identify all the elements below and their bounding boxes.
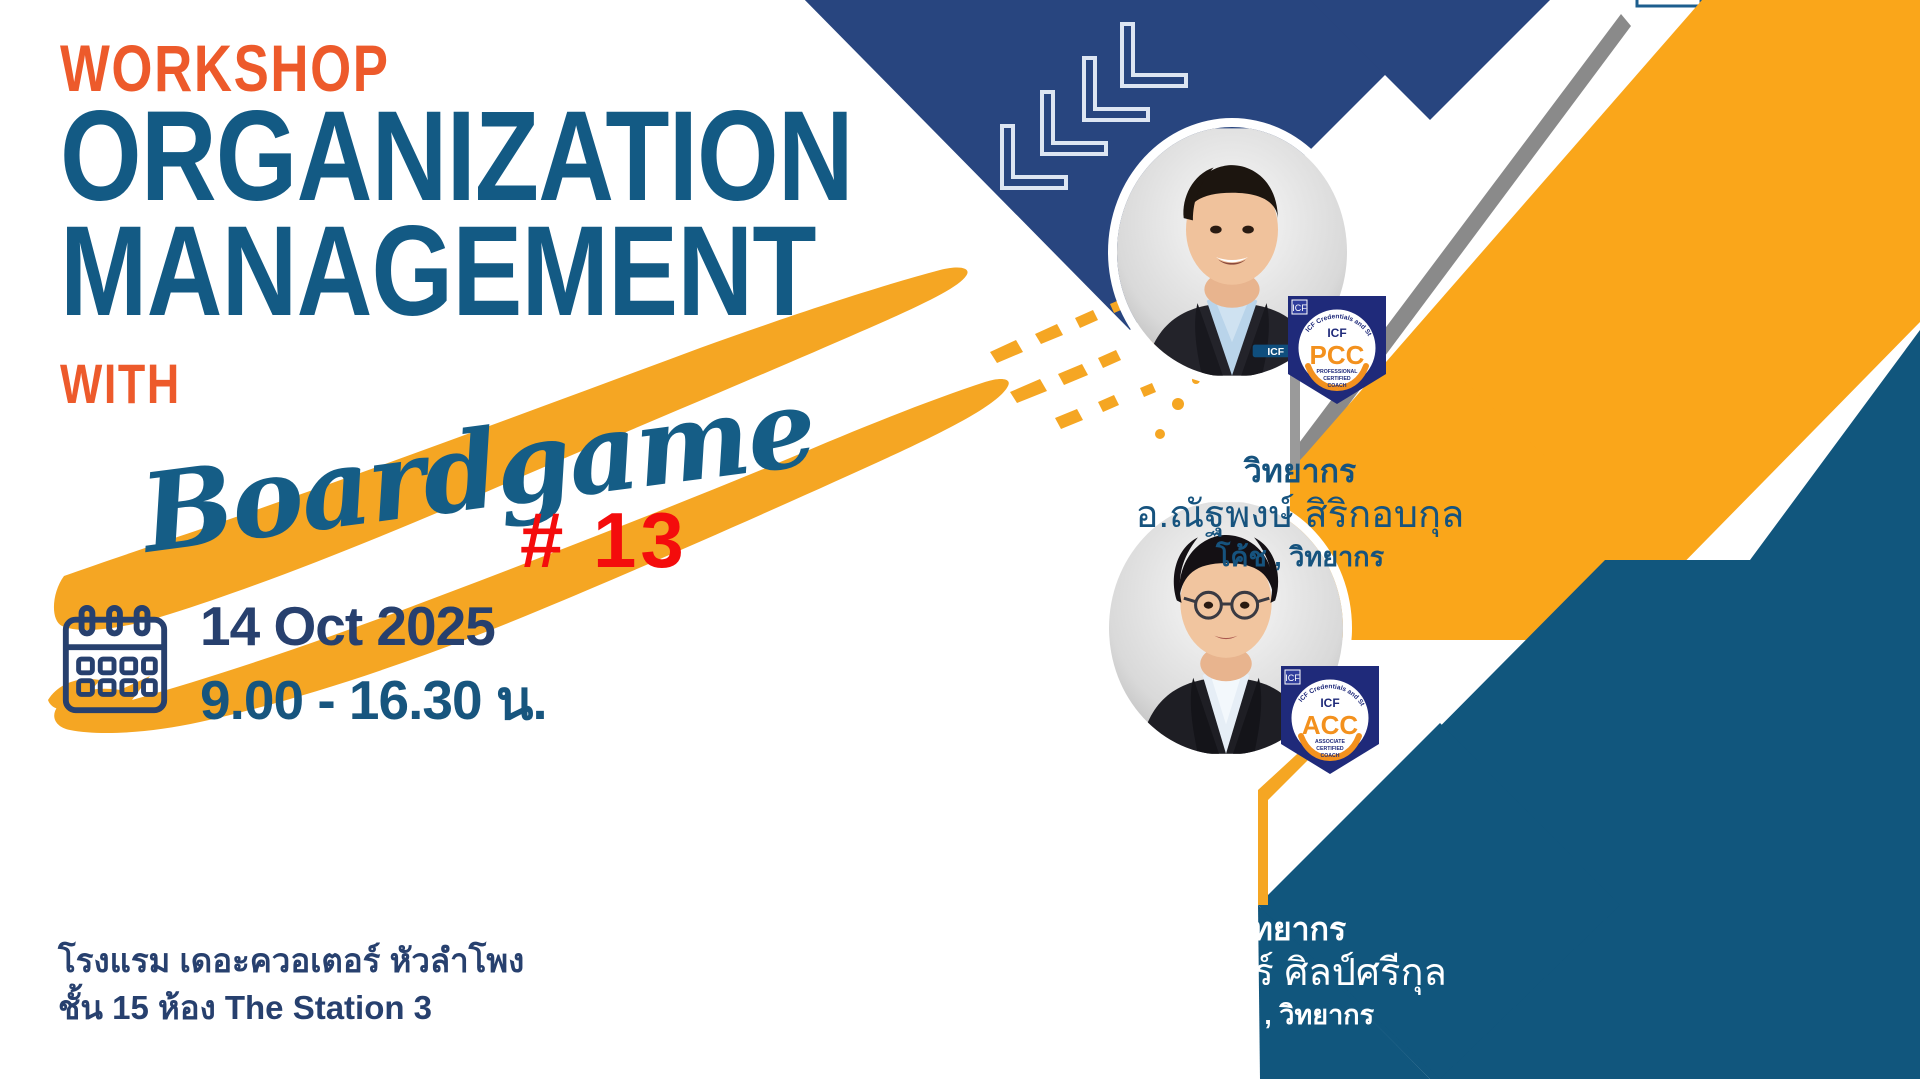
badge-line2-1: CERTIFIED (1323, 376, 1351, 382)
venue-line-2: ชั้น 15 ห้อง The Station 3 (58, 985, 524, 1032)
badge-line1-2: ASSOCIATE (1315, 739, 1345, 745)
speaker-2-name: ดร.อรวีร์ ศิลป์ศรีกุล (1060, 949, 1520, 998)
headline-block: WORKSHOP ORGANIZATION MANAGEMENT WITH (60, 38, 1027, 416)
venue-block: โรงแรม เดอะควอเตอร์ หัวลำโพง ชั้น 15 ห้อ… (58, 938, 524, 1032)
speaker-2-role: วิทยากร (1060, 910, 1520, 949)
title-line-management: MANAGEMENT (60, 214, 853, 329)
badge-line1-1: PROFESSIONAL (1317, 369, 1359, 375)
badge-level-1: PCC (1310, 340, 1365, 370)
icf-pcc-badge: ICF ICF Credentials and Standards ICF PC… (1282, 290, 1392, 408)
event-poster: WORKSHOP ORGANIZATION MANAGEMENT WITH Bo… (0, 0, 1920, 1079)
event-time: 9.00 - 16.30 น. (200, 670, 547, 732)
speaker-1-info: วิทยากร อ.ณัฐพงษ์ สิริกอบกุล โค้ช , วิทย… (1070, 452, 1530, 576)
navy-diamond-shape-right (1300, 0, 1560, 120)
badge-line3-1: COACH (1327, 383, 1346, 389)
svg-text:ICF: ICF (1285, 673, 1300, 683)
badge-level-2: ACC (1302, 710, 1359, 740)
speaker-1-name: อ.ณัฐพงษ์ สิริกอบกุล (1070, 491, 1530, 540)
edition-number-badge: # 13 (520, 495, 688, 586)
svg-text:ICF: ICF (1292, 303, 1307, 313)
venue-line-1: โรงแรม เดอะควอเตอร์ หัวลำโพง (58, 938, 524, 985)
badge-brand-2: ICF (1320, 696, 1339, 710)
badge-line2-2: CERTIFIED (1316, 746, 1344, 752)
speaker-2-subtitle: โค้ช , วิทยากร (1060, 998, 1520, 1033)
event-date: 14 Oct 2025 (200, 596, 547, 658)
badge-brand-1: ICF (1327, 326, 1346, 340)
small-blue-outline-rectangle (1637, 0, 1701, 6)
title-line-organization: ORGANIZATION (60, 99, 853, 214)
calendar-icon (56, 602, 174, 720)
icf-acc-badge: ICF ICF Credentials and Standards ICF AC… (1275, 660, 1385, 778)
schedule-block: 14 Oct 2025 9.00 - 16.30 น. (56, 596, 547, 731)
speaker-1-subtitle: โค้ช , วิทยากร (1070, 540, 1530, 575)
speaker-2-info: วิทยากร ดร.อรวีร์ ศิลป์ศรีกุล โค้ช , วิท… (1060, 910, 1520, 1034)
badge-line3-2: COACH (1320, 753, 1339, 759)
speaker-1-role: วิทยากร (1070, 452, 1530, 491)
